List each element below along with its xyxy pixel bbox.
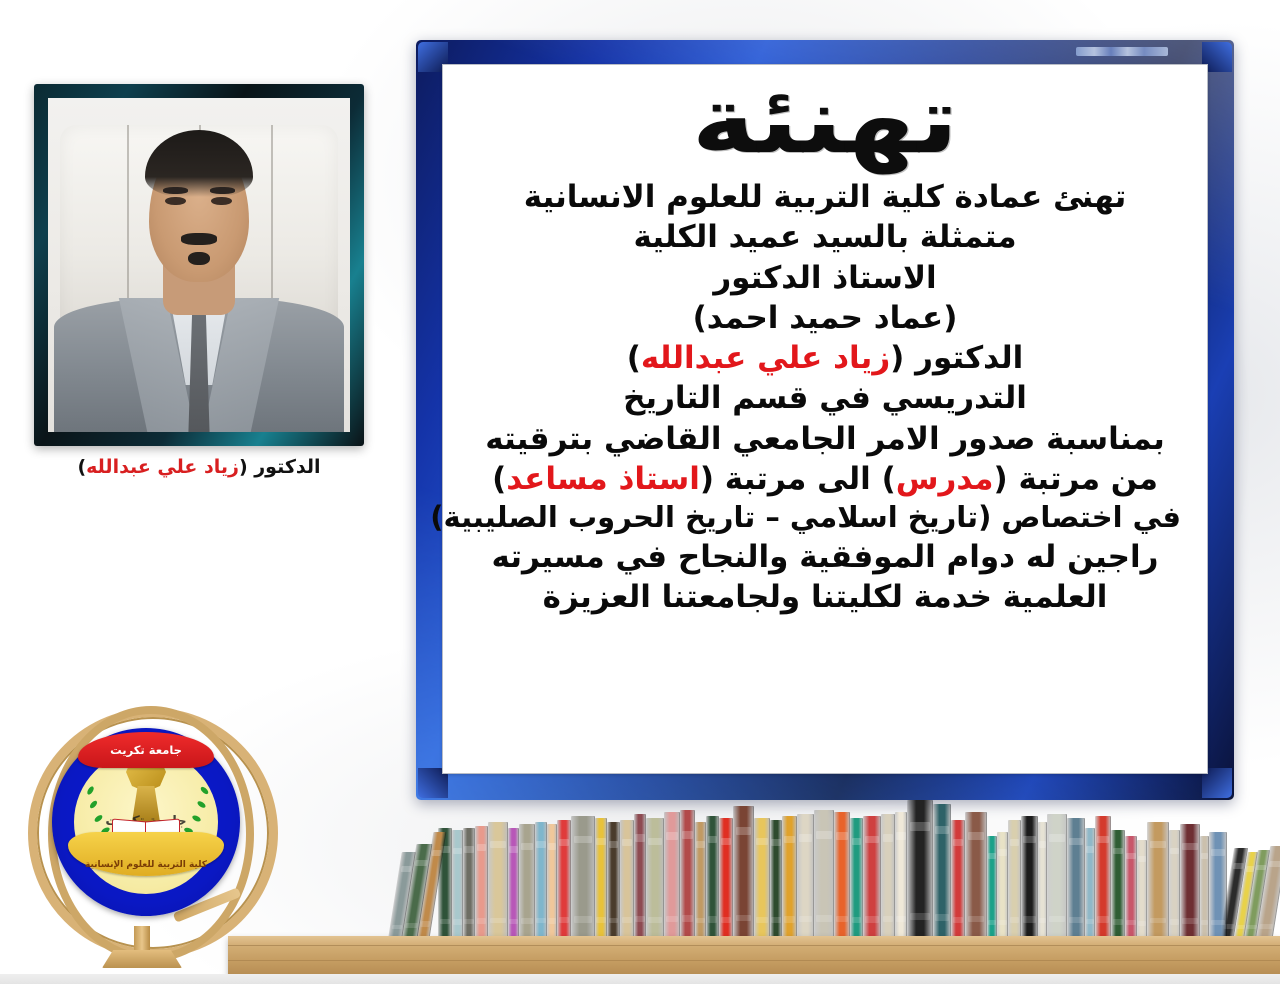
book-spine [706,816,719,940]
book-spine [1169,830,1180,940]
book-spine [951,820,965,940]
book-spine [997,832,1008,940]
book-spine [1209,832,1227,940]
marker-tray [1076,47,1168,56]
book-spine [620,820,634,940]
portrait-image [48,98,350,432]
book-spine [1095,816,1111,940]
body-line-3: الاستاذ الدكتور [469,258,1181,298]
body-line-11: العلمية خدمة لكليتنا ولجامعتنا العزيزة [469,577,1181,617]
line5-highlight-name: زياد علي عبدالله [641,340,890,376]
eyebrow-left [163,187,189,194]
body-line-6: التدريسي في قسم التاريخ [469,378,1181,418]
book-spine [463,828,475,940]
body-line-2: متمثلة بالسيد عميد الكلية [469,217,1181,257]
book-spine [965,812,987,940]
book-spine [1047,814,1067,940]
book-spine [814,810,834,940]
book-spine [863,816,881,940]
book-spine [881,814,895,940]
line8-suffix: ) [492,461,506,497]
logo-bottom-ribbon: كلية التربية للعلوم الإنسانية [68,832,224,876]
line5-prefix: الدكتور ( [890,340,1023,376]
logo-top-ribbon: جامعة تكريت [78,732,214,768]
photo-of-doctor [48,98,350,432]
book-spine [1085,828,1095,940]
portrait-photo [34,84,364,446]
caption-suffix: ) [77,456,86,478]
floor-strip [0,974,1280,984]
university-logo: جامعة تكريت جامعة تكريت كلية التربية للع… [22,704,272,976]
body-line-5: الدكتور (زياد علي عبدالله) [469,338,1181,378]
book-spine [664,812,680,940]
book-spine [452,830,463,940]
body-line-10: راجين له دوام الموفقية والنجاح في مسيرته [469,537,1181,577]
page-title: تهنئة [405,75,1245,167]
eyebrow-right [210,187,236,194]
globe-stand-base [102,950,182,968]
congratulation-body: تهنئ عمادة كلية التربية للعلوم الانسانية… [469,177,1181,618]
portrait-caption: الدكتور (زياد علي عبدالله) [34,456,364,479]
body-line-9: في اختصاص (تاريخ اسلامي – تاريخ الحروب ا… [469,499,1181,537]
line8-prefix: من مرتبة ( [993,461,1157,497]
book-spine [1137,840,1147,940]
body-line-1: تهنئ عمادة كلية التربية للعلوم الانسانية [469,177,1181,217]
bookshelf [228,784,1280,984]
body-line-7: بمناسبة صدور الامر الجامعي القاضي بترقيت… [469,419,1181,459]
line8-highlight-new-rank: استاذ مساعد [506,461,700,497]
logo-university-name: جامعة تكريت [78,732,214,768]
book-spine [571,816,595,940]
book-spine [1125,836,1137,940]
line5-suffix: ) [627,340,641,376]
book-spine [695,822,706,940]
chin-beard [188,252,209,265]
book-spine [1147,822,1169,940]
book-spine [475,826,488,940]
chair-seam [271,125,273,319]
poster-canvas: الدكتور (زياد علي عبدالله) تهنئة تهنئ عم… [0,0,1280,984]
caption-name: زياد علي عبدالله [86,456,239,478]
chair-seam [127,125,129,319]
book-spine [519,824,535,940]
book-spine [508,828,519,940]
logo-college-name: كلية التربية للعلوم الإنسانية [68,832,224,876]
book-spine [719,818,733,940]
book-spine [607,822,620,940]
whiteboard: تهنئة تهنئ عمادة كلية التربية للعلوم الا… [416,40,1234,800]
body-line-4: (عماد حميد احمد) [469,298,1181,338]
book-spine [1067,818,1085,940]
line8-highlight-old-rank: مدرس [896,461,994,497]
globe-stand-neck [134,926,150,952]
book-spine [834,812,850,940]
book-spine [680,810,695,940]
book-spine [1021,816,1038,940]
book-spine [907,800,933,940]
logo-emblem-disc: جامعة تكريت جامعة تكريت كلية التربية للع… [52,728,240,916]
eye-left [165,197,186,206]
board-surface: تهنئة تهنئ عمادة كلية التربية للعلوم الا… [442,64,1208,774]
book-spine [933,804,951,940]
book-spine [646,818,664,940]
book-spine [1038,822,1047,940]
body-line-8: من مرتبة (مدرس) الى مرتبة (استاذ مساعد) [469,459,1181,499]
book-spine [770,820,782,940]
line8-middle: ) الى مرتبة ( [700,461,896,497]
book-spine [595,818,607,940]
book-spine [557,820,571,940]
poster-content: تهنئة تهنئ عمادة كلية التربية للعلوم الا… [443,65,1207,773]
book-spine [1111,830,1125,940]
caption-prefix: الدكتور ( [239,456,321,478]
book-spine [634,814,646,940]
book-spine [782,816,797,940]
book-spine [1008,820,1021,940]
book-spine [987,836,997,940]
book-spine [1200,836,1209,940]
book-spine [797,814,814,940]
book-spine [488,822,508,940]
book-spine [850,818,863,940]
book-spine [535,822,547,940]
book-spine [733,806,754,940]
book-spine [547,824,557,940]
book-spine [895,812,907,940]
book-row [228,792,1280,940]
book-spine [1180,824,1200,940]
moustache [181,233,217,244]
book-spine [754,818,770,940]
